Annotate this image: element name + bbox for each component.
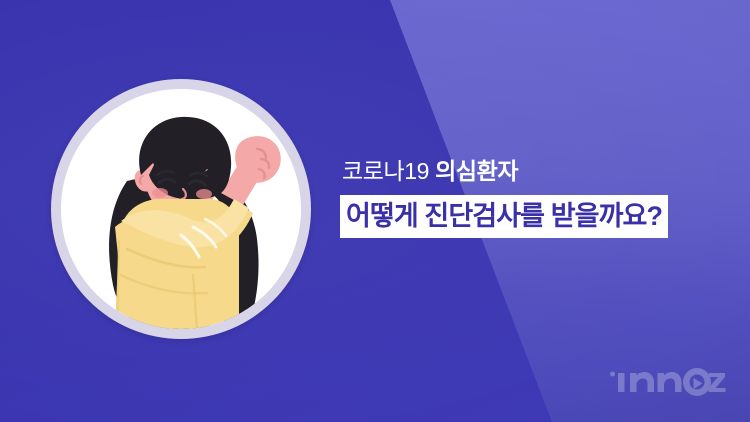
video-title-card: 코로나19 의심환자 어떻게 진단검사를 받을까요? xyxy=(0,0,750,422)
illustration-circle xyxy=(51,79,311,339)
illustration-disc xyxy=(61,89,301,329)
headline-main-question: 어떻게 진단검사를 받을까요? xyxy=(340,195,668,238)
headline-subtitle-light: 코로나19 xyxy=(342,158,429,184)
headline-subtitle-strong: 의심환자 xyxy=(435,158,518,184)
headline-subtitle: 코로나19 의심환자 xyxy=(342,156,720,186)
headline-block: 코로나19 의심환자 어떻게 진단검사를 받을까요? xyxy=(340,156,720,238)
person-coughing-illustration xyxy=(61,89,301,329)
